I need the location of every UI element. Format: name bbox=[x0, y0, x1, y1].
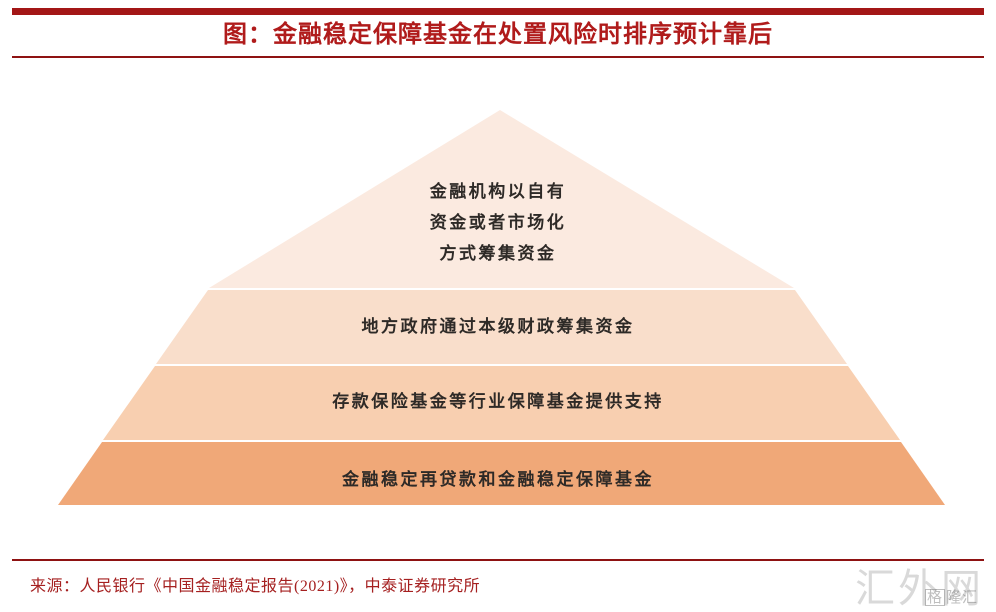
pyramid-tier-2-label: 地方政府通过本级财政筹集资金 bbox=[248, 312, 748, 337]
watermark-sub-rest: 隆汇 bbox=[946, 589, 978, 606]
pyramid-tier-1-label: 金融机构以自有资金或者市场化方式筹集资金 bbox=[348, 176, 648, 269]
pyramid-tier-1-label-line: 金融机构以自有 bbox=[348, 176, 648, 207]
chart-page: 图：金融稳定保障基金在处置风险时排序预计靠后 金融机构以自有资金或者市场化方式筹… bbox=[0, 0, 996, 612]
pyramid-diagram: 金融机构以自有资金或者市场化方式筹集资金 地方政府通过本级财政筹集资金 存款保险… bbox=[0, 62, 996, 532]
header-rule-top bbox=[12, 8, 984, 15]
footer-rule bbox=[12, 559, 984, 561]
watermark-gelonghui: 格隆汇 bbox=[925, 586, 978, 607]
pyramid-tier-4-label: 金融稳定再贷款和金融稳定保障基金 bbox=[218, 465, 778, 490]
pyramid-tier-1-label-line: 方式筹集资金 bbox=[348, 238, 648, 269]
header-rule-bottom bbox=[12, 56, 984, 58]
pyramid-tier-1-label-line: 资金或者市场化 bbox=[348, 207, 648, 238]
watermark-sub-box: 格 bbox=[925, 589, 945, 606]
watermark-huiwai: 汇外网 bbox=[855, 556, 984, 612]
pyramid-svg bbox=[0, 62, 996, 532]
source-note: 来源：人民银行《中国金融稳定报告(2021)》，中泰证券研究所 bbox=[30, 572, 480, 596]
pyramid-tier-3-label: 存款保险基金等行业保障基金提供支持 bbox=[218, 387, 778, 412]
page-title: 图：金融稳定保障基金在处置风险时排序预计靠后 bbox=[0, 18, 996, 52]
